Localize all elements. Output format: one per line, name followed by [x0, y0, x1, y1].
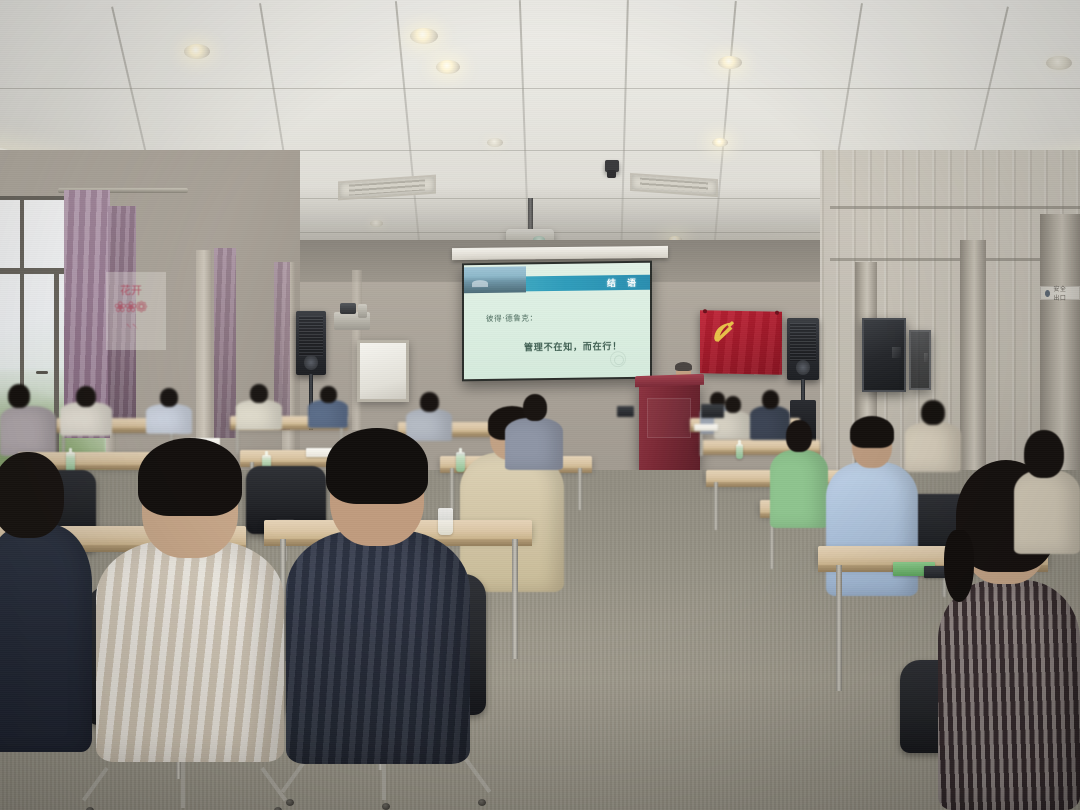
- ceiling-tee: [0, 88, 1080, 89]
- attendee: [146, 388, 192, 432]
- hammer-and-sickle-icon: [711, 319, 737, 343]
- attendee-hair: [138, 438, 242, 516]
- security-camera: [605, 160, 619, 172]
- flat-panel-display: [862, 318, 906, 392]
- attendee-torso: [96, 540, 284, 762]
- presenter-hair: [675, 362, 692, 371]
- wall-decoration: 花开 ❀❀❁ ৲৲: [106, 272, 166, 350]
- slide-quote-attribution: 彼得·德鲁克：: [486, 312, 538, 324]
- exit-sign-icon: [1045, 290, 1050, 297]
- screen-housing: [452, 246, 668, 260]
- attendee: [236, 384, 282, 428]
- training-room-photo: 安全 出口 花开 ❀❀❁ ৲৲ 结 语 彼得·德鲁克： 管理不在知，而在行！: [0, 0, 1080, 810]
- speaker-woofer: [304, 355, 317, 370]
- exit-sign-label: 安全 出口: [1053, 284, 1075, 302]
- attendee-torso: [0, 524, 92, 752]
- chair-base: [98, 779, 270, 810]
- window-handle[interactable]: [36, 371, 48, 374]
- attendee-foreground-left: [96, 432, 284, 762]
- lectern-top: [635, 374, 704, 387]
- attendee-head: [0, 452, 64, 538]
- attendee-torso: [1014, 470, 1080, 554]
- desk-leg: [836, 565, 842, 691]
- attendee-hair: [326, 428, 428, 504]
- speaker-grill: [790, 323, 816, 361]
- downlight: [1046, 56, 1072, 70]
- slide-header-title: 结 语: [607, 276, 640, 289]
- wall-cabinet: [909, 330, 931, 390]
- attendee-foreground-center: [286, 424, 470, 764]
- av-equipment-unit: [358, 304, 367, 318]
- speaker-grill: [299, 316, 323, 356]
- flag-tack: [775, 311, 779, 315]
- lectern-front-panel: [647, 398, 691, 438]
- desk-leg: [578, 468, 582, 510]
- attendee-head: [1024, 430, 1064, 478]
- laptop[interactable]: [617, 406, 634, 417]
- slide-quote-text: 管理不在知，而在行！: [524, 339, 622, 353]
- laptop[interactable]: [701, 404, 724, 418]
- attendee-torso: [286, 530, 470, 764]
- party-flag: [700, 310, 782, 375]
- slide-photo: [464, 266, 526, 293]
- wall-art-glyph: 花开: [120, 282, 142, 298]
- downlight: [718, 56, 742, 69]
- wall-art-flourish-2: ৲৲: [126, 316, 138, 333]
- downlight: [436, 60, 460, 74]
- attendee-torso: [938, 580, 1080, 810]
- water-bottle: [736, 444, 743, 459]
- av-equipment-box: [340, 303, 356, 314]
- pa-speaker-right: [787, 318, 819, 380]
- attendee-edge-right: [1014, 430, 1080, 550]
- speaker-woofer: [796, 360, 810, 375]
- pa-speaker-left: [296, 311, 326, 375]
- exit-sign: 安全 出口: [1040, 286, 1080, 300]
- flag-tack: [703, 309, 707, 313]
- wall-art-flourish: ❀❀❁: [114, 298, 146, 316]
- attendee: [770, 420, 828, 524]
- projection-screen: 结 语 彼得·德鲁克： 管理不在知，而在行！: [462, 261, 652, 382]
- curtain-far[interactable]: [214, 248, 236, 438]
- paper-document: [694, 424, 718, 431]
- desk-leg: [714, 482, 718, 530]
- attendee-edge-left: [0, 452, 92, 752]
- chair-caster: [286, 799, 294, 806]
- attendee: [60, 384, 112, 432]
- whiteboard: [357, 340, 409, 402]
- attendee: [308, 386, 348, 426]
- chair-caster: [478, 799, 486, 806]
- downlight: [712, 138, 728, 147]
- downlight: [184, 44, 210, 59]
- chair-caster: [382, 803, 390, 810]
- attendee: [505, 394, 563, 466]
- downlight: [487, 138, 503, 147]
- attendee: [0, 384, 56, 454]
- downlight: [410, 28, 438, 44]
- desk-leg: [512, 539, 518, 659]
- chair-base: [298, 770, 474, 802]
- slide-content: 结 语 彼得·德鲁克： 管理不在知，而在行！: [464, 263, 650, 380]
- wall-pillar: [196, 250, 212, 460]
- attendee-ponytail: [944, 530, 974, 602]
- wall-seam: [830, 206, 1080, 209]
- slide-watermark-logo: [610, 351, 626, 367]
